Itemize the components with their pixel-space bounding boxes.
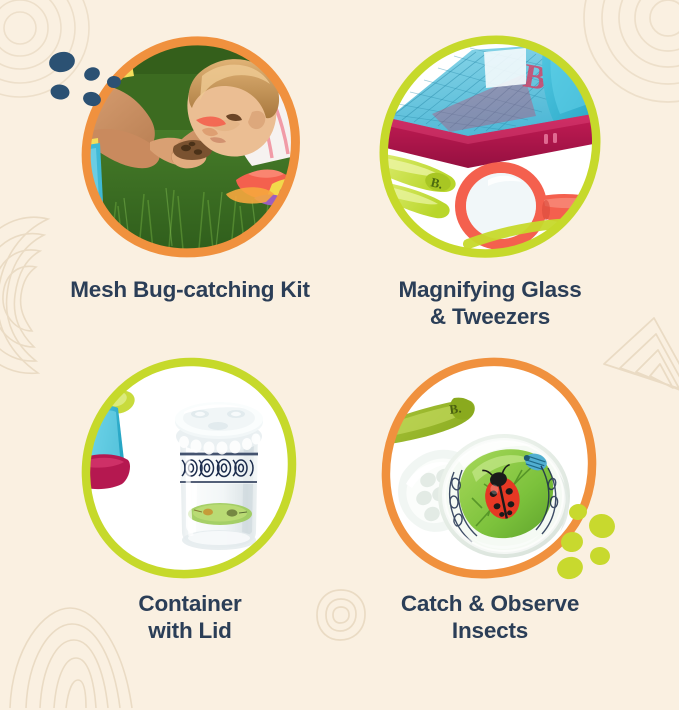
vented-lid (175, 402, 263, 439)
photo-frame-catch-and-observe-insects: B. (376, 356, 604, 582)
svg-text:B.: B. (448, 400, 462, 417)
photo-frame-magnifying-glass-tweezers: B. (376, 34, 604, 260)
feature-label-magnifying-glass-tweezers: Magnifying Glass & Tweezers (340, 276, 640, 330)
photo-content-container-with-lid (72, 356, 304, 582)
feature-label-line1: Magnifying Glass (340, 276, 640, 303)
feature-label-line2: with Lid (40, 617, 340, 644)
feature-label-line1: Catch & Observe (340, 590, 640, 617)
infographic-canvas: Mesh Bug-catching Kit (0, 0, 679, 679)
feature-label-catch-and-observe-insects: Catch & Observe Insects (340, 590, 640, 644)
clear-container (175, 402, 263, 550)
photo-frame-mesh-bug-catching-kit (76, 34, 304, 260)
feature-label-mesh-bug-catching-kit: Mesh Bug-catching Kit (40, 276, 340, 303)
feature-card-magnifying-glass-tweezers[interactable]: B. (340, 18, 640, 318)
feature-label-line1: Container (40, 590, 340, 617)
feature-card-mesh-bug-catching-kit[interactable]: Mesh Bug-catching Kit (40, 18, 340, 318)
feature-label-container-with-lid: Container with Lid (40, 590, 340, 644)
feature-label-line1: Mesh Bug-catching Kit (40, 276, 340, 303)
photo-frame-container-with-lid (76, 356, 304, 582)
feature-card-container-with-lid[interactable]: Container with Lid (40, 340, 340, 640)
feature-card-catch-and-observe-insects[interactable]: B. (340, 340, 640, 640)
feature-label-line2: Insects (340, 617, 640, 644)
container-on-side (438, 434, 570, 558)
feature-label-line2: & Tweezers (340, 303, 640, 330)
photo-content-child-on-grass (70, 34, 312, 260)
